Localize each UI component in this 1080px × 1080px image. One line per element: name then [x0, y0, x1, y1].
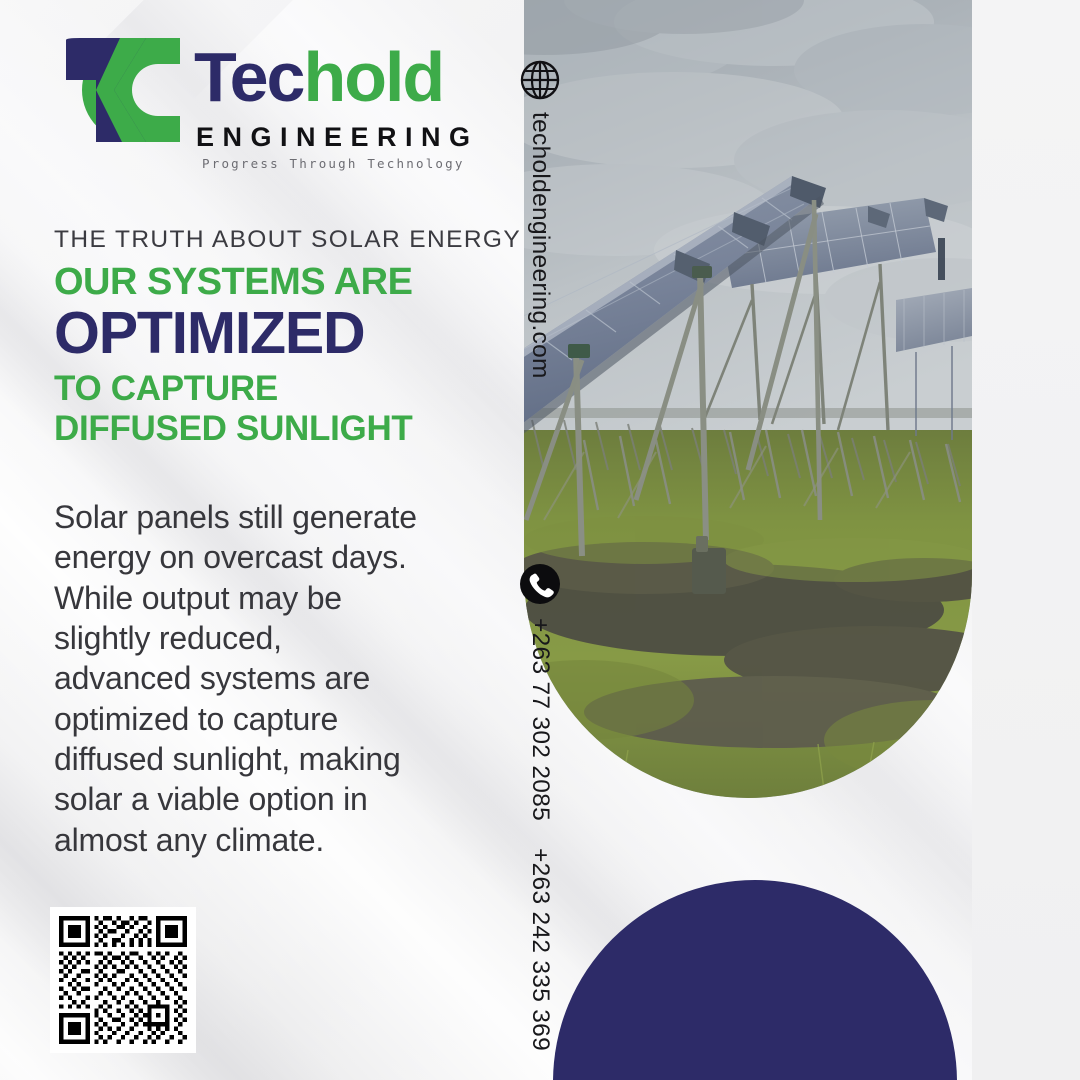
social-post-canvas: Techold ENGINEERING Progress Through Tec…: [0, 0, 1080, 1080]
logo-wordmark: Techold: [194, 42, 443, 112]
phone-primary-label[interactable]: +263 77 302 2085: [526, 618, 554, 821]
tc-monogram-svg: [62, 38, 184, 142]
phone-icon: [518, 562, 562, 606]
headline-line-4: DIFFUSED SUNLIGHT: [54, 409, 524, 449]
headline-line-2: OPTIMIZED: [54, 304, 524, 363]
headline-eyebrow: THE TRUTH ABOUT SOLAR ENERGY: [54, 226, 524, 254]
logo-subtitle: ENGINEERING: [196, 122, 479, 153]
website-label[interactable]: techoldengineering.com: [526, 112, 554, 379]
headline-line-1: OUR SYSTEMS ARE: [54, 263, 524, 302]
phone-icon-svg: [518, 562, 562, 606]
contact-rail-background: [972, 0, 1080, 1080]
headline-block: THE TRUTH ABOUT SOLAR ENERGY OUR SYSTEMS…: [54, 226, 524, 449]
globe-icon: [518, 58, 562, 102]
logo-word-dark: Tec: [194, 38, 303, 116]
solar-farm-illustration: [524, 0, 972, 798]
techold-tc-monogram-icon: [62, 38, 184, 142]
brand-logo: Techold ENGINEERING Progress Through Tec…: [62, 36, 482, 168]
qr-code-svg: [59, 916, 187, 1044]
solar-farm-photo: [524, 0, 972, 798]
phone-secondary-label[interactable]: +263 242 335 369: [526, 848, 554, 1051]
globe-icon-svg: [518, 58, 562, 102]
logo-word-green: hold: [303, 38, 443, 116]
logo-tagline: Progress Through Technology: [202, 156, 465, 171]
headline-line-3: TO CAPTURE: [54, 369, 524, 409]
qr-code[interactable]: [50, 907, 196, 1053]
body-paragraph: Solar panels still generate energy on ov…: [54, 497, 484, 860]
